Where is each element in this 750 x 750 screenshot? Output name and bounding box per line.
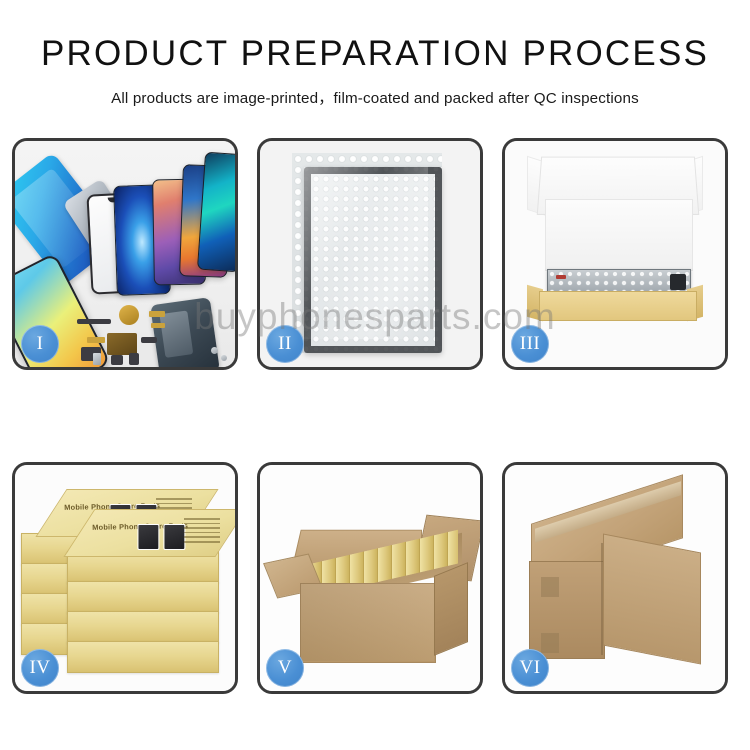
carton-handle-cutout-top [541, 577, 559, 597]
part-flex-cable-1 [149, 311, 165, 317]
plastic-sheen [304, 167, 428, 339]
step-badge-2: II [266, 325, 304, 363]
part-taptic-engine [129, 353, 139, 365]
box-spec-lines [184, 518, 220, 548]
step-badge-4: IV [21, 649, 59, 687]
process-step-2: II [257, 138, 483, 370]
part-metal-bracket [93, 353, 101, 365]
step-badge-6: VI [511, 649, 549, 687]
retail-box-side [67, 641, 219, 673]
product-preparation-infographic: PRODUCT PREPARATION PROCESS All products… [0, 0, 750, 750]
part-camera-module [111, 355, 123, 365]
retail-box-side [67, 581, 219, 613]
phone-disassembled-back [150, 297, 220, 367]
process-step-grid: I II III [12, 138, 738, 694]
part-flex-cable-2 [151, 323, 165, 328]
process-step-5: V [257, 462, 483, 694]
process-step-4: Mobile Phone Spare Parts Mobile Phone Sp… [12, 462, 238, 694]
box-window-back [163, 524, 185, 550]
step-badge-5: V [266, 649, 304, 687]
step-badge-1: I [21, 325, 59, 363]
header: PRODUCT PREPARATION PROCESS All products… [0, 0, 750, 108]
box-front-panel [539, 291, 697, 321]
retail-box-lid: Mobile Phone Spare Parts [63, 509, 235, 557]
page-title: PRODUCT PREPARATION PROCESS [0, 36, 750, 73]
part-connector-2 [141, 337, 157, 343]
process-step-3: III [502, 138, 728, 370]
part-screw-1 [211, 347, 218, 354]
carton-handle-cutout-bottom [541, 633, 559, 653]
part-flex-cable-3 [87, 337, 105, 343]
part-gold-coil [119, 305, 139, 325]
sealed-carton-right-face [603, 533, 701, 664]
page-subtitle: All products are image-printed，film-coat… [0, 86, 750, 108]
step-badge-3: III [511, 325, 549, 363]
carton-front-shading [300, 583, 434, 661]
part-screw-2 [221, 355, 227, 361]
box-window-front [137, 524, 159, 550]
retail-box-side [67, 611, 219, 643]
process-step-1: I [12, 138, 238, 370]
carton-corner-seam [601, 543, 603, 655]
part-logic-board [107, 333, 137, 355]
carton-side-panel [434, 562, 468, 656]
process-step-6: VI [502, 462, 728, 694]
foam-insert [545, 199, 693, 271]
part-speaker-mesh [77, 319, 111, 324]
